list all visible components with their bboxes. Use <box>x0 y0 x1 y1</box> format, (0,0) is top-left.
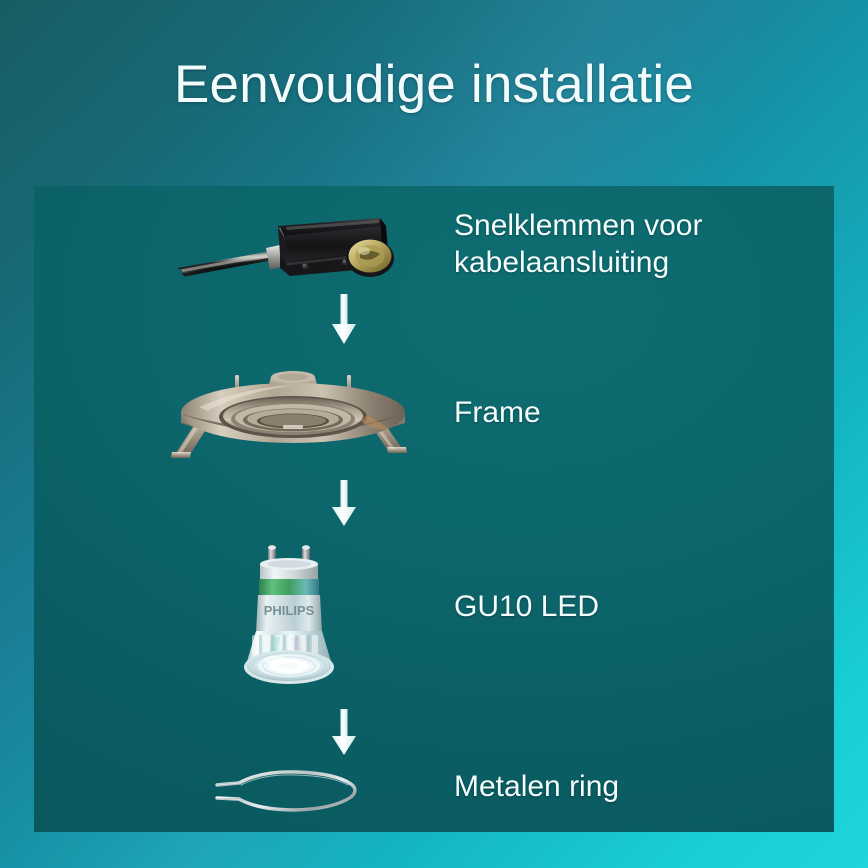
step-row-2: Frame <box>34 351 834 491</box>
arrow-3 <box>289 709 399 757</box>
step-3-label: GU10 LED <box>454 589 824 626</box>
arrow-1 <box>289 294 399 346</box>
step-3-artwork: PHILIPS <box>124 531 454 706</box>
step-2-artwork <box>124 351 454 481</box>
terminal-connector-illustration <box>174 196 404 296</box>
gu10-led-bulb-icon: PHILIPS <box>214 539 364 699</box>
step-1-label: Snelklemmen voor kabelaansluiting <box>454 208 824 281</box>
gu10-led-bulb-illustration: PHILIPS <box>214 539 364 699</box>
step-row-4: Metalen ring <box>34 751 834 831</box>
down-arrow-icon <box>329 480 359 528</box>
down-arrow-icon <box>329 294 359 346</box>
arrow-2 <box>289 480 399 528</box>
metal-spring-ring-illustration <box>209 763 369 819</box>
step-row-1: Snelklemmen voor kabelaansluiting <box>34 186 834 326</box>
step-1-label-line-1: Snelklemmen voor <box>454 208 824 245</box>
down-arrow-icon <box>329 709 359 757</box>
bulb-brand-text: PHILIPS <box>264 603 315 618</box>
step-4-label-line-1: Metalen ring <box>454 769 824 806</box>
step-4-artwork <box>124 751 454 831</box>
step-1-artwork <box>124 186 454 306</box>
page-title: Eenvoudige installatie <box>0 56 868 114</box>
metal-spring-ring-icon <box>209 763 369 819</box>
step-4-label: Metalen ring <box>454 769 824 806</box>
steps-panel: Snelklemmen voor kabelaansluiting <box>34 186 834 832</box>
infographic-canvas: Eenvoudige installatie <box>0 0 868 868</box>
step-3-label-line-1: GU10 LED <box>454 589 824 626</box>
step-2-label-line-1: Frame <box>454 395 824 432</box>
downlight-frame-icon <box>159 357 419 475</box>
downlight-frame-illustration <box>159 357 419 475</box>
terminal-connector-icon <box>174 196 404 296</box>
step-row-3: PHILIPS <box>34 531 834 706</box>
step-2-label: Frame <box>454 395 824 432</box>
step-1-label-line-2: kabelaansluiting <box>454 245 824 282</box>
